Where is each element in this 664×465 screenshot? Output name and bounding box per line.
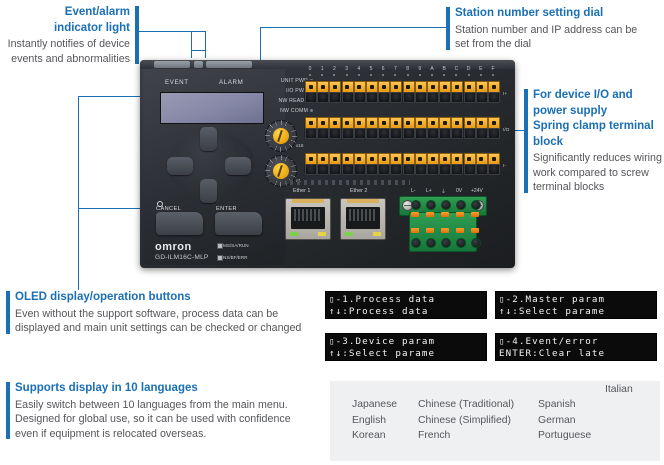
up-button[interactable] (200, 127, 217, 151)
power-terminal-label: L+ (426, 188, 432, 194)
wire-entry-hole[interactable] (378, 92, 390, 103)
power-terminal-label: 0V (456, 188, 462, 194)
terminal-row-2-label: I/O (503, 128, 509, 133)
language-item: Chinese (Traditional) (418, 397, 514, 413)
oled-sample-1-line1: ▯-1.Process data (329, 294, 483, 306)
model-number: GD-ILM16C-MLP (155, 254, 209, 261)
language-item: Italian (605, 382, 633, 398)
language-item: Portuguese (538, 428, 591, 444)
ether1-port[interactable] (285, 198, 331, 240)
wire-entry-hole[interactable] (427, 164, 439, 175)
ether2-act-led (373, 232, 381, 236)
vent-slots (290, 180, 410, 185)
wire-entry-hole[interactable] (378, 128, 390, 139)
language-column-2: Chinese (Traditional) Chinese (Simplifie… (418, 397, 514, 444)
terminal-number-dot (333, 74, 335, 76)
terminal-number: E (477, 66, 485, 72)
language-item: Spanish (538, 397, 591, 413)
oled-screen-samples: ▯-1.Process data ↑↓:Process data ▯-2.Mas… (325, 291, 661, 361)
wire-entry-hole[interactable] (390, 164, 402, 175)
callout-event-alarm: Event/alarm indicator light Instantly no… (6, 5, 139, 66)
callout-event-alarm-title: Event/alarm indicator light (6, 5, 130, 36)
power-terminal-lever[interactable] (411, 212, 419, 217)
terminal-number: B (440, 66, 448, 72)
wire-entry-hole[interactable] (415, 128, 427, 139)
terminal-number: 5 (367, 66, 375, 72)
terminal-number: 0 (306, 66, 314, 72)
oled-sample-4-line2: ENTER:Clear late (499, 348, 653, 360)
wire-entry-hole[interactable] (366, 128, 378, 139)
oled-sample-3-line1: ▯-3.Device param (329, 336, 483, 348)
event-led-label: EVENT (165, 79, 189, 86)
oled-sample-4: ▯-4.Event/error ENTER:Clear late (495, 333, 657, 361)
wire-entry-hole[interactable] (378, 164, 390, 175)
terminal-number-dot (321, 74, 323, 76)
wire-entry-hole[interactable] (415, 164, 427, 175)
right-button[interactable] (225, 157, 251, 175)
power-terminal-lever[interactable] (456, 228, 464, 233)
callout-languages-body: Easily switch between 10 languages from … (15, 398, 327, 442)
leader-line-event-alarm-h (139, 31, 205, 32)
oled-sample-2-line2: ↑↓:Select parame (499, 306, 653, 318)
wire-entry-hole[interactable] (427, 128, 439, 139)
language-list-box: Japanese English Korean Chinese (Traditi… (330, 381, 660, 461)
power-terminal-port[interactable] (426, 238, 436, 248)
power-terminal-label: ⏚ (441, 188, 446, 195)
status-led-dot-nw-comm (310, 109, 313, 112)
wire-entry-hole[interactable] (439, 164, 451, 175)
power-terminal-port[interactable] (441, 200, 451, 210)
power-terminal-label: L- (411, 188, 415, 194)
wire-entry-hole[interactable] (329, 128, 341, 139)
callout-terminal-block-title: For device I/O and power supply Spring c… (533, 88, 664, 150)
wire-entry-hole[interactable] (451, 128, 463, 139)
terminal-number-dot (358, 74, 360, 76)
left-button[interactable] (167, 157, 193, 175)
terminal-number: D (465, 66, 473, 72)
wire-entry-hole[interactable] (403, 128, 415, 139)
callout-terminal-block-body: Significantly reduces wiring work compar… (533, 151, 664, 195)
terminal-number-dot (468, 74, 470, 76)
terminal-row-1-label: I+ (503, 92, 507, 97)
terminal-number: 3 (343, 66, 351, 72)
terminal-number-dot (407, 74, 409, 76)
terminal-number: 4 (355, 66, 363, 72)
wire-entry-hole[interactable] (464, 92, 476, 103)
oled-sample-2: ▯-2.Master param ↑↓:Select parame (495, 291, 657, 319)
terminal-number-dot (394, 74, 396, 76)
ether2-port[interactable] (340, 198, 386, 240)
terminal-number-dot (382, 74, 384, 76)
language-item: Japanese (352, 397, 397, 413)
leader-line-event-alarm-v2 (205, 31, 206, 58)
ether2-link-led (345, 232, 353, 236)
terminal-row-3-label: I- (503, 164, 506, 169)
callout-oled-buttons-title: OLED display/operation buttons (15, 290, 325, 306)
callout-event-alarm-body: Instantly notifies of device events and … (6, 37, 130, 66)
wire-entry-hole[interactable] (451, 164, 463, 175)
status-led-label-unit-pwr: UNIT PWR (248, 78, 308, 84)
terminal-number-dot (419, 74, 421, 76)
terminal-number: 2 (330, 66, 338, 72)
callout-station-dial-title: Station number setting dial (455, 6, 664, 22)
callout-station-dial-body: Station number and IP address can be set… (455, 23, 664, 52)
din-clip-mid (194, 61, 203, 68)
language-column-1: Japanese English Korean (352, 397, 397, 444)
leader-line-event-alarm-v1 (191, 31, 192, 58)
language-item: German (538, 413, 591, 429)
ether2-notch (347, 199, 379, 203)
wire-entry-hole[interactable] (488, 128, 500, 139)
wire-entry-hole[interactable] (451, 92, 463, 103)
station-dial-x16-knob[interactable] (273, 128, 289, 144)
wire-entry-hole[interactable] (415, 92, 427, 103)
station-dial-x1-knob[interactable] (273, 163, 289, 179)
power-terminal-lever[interactable] (471, 212, 479, 217)
station-dial-x16-label: x16 (296, 143, 303, 148)
alarm-led-label: ALARM (219, 79, 243, 86)
oled-sample-2-line1: ▯-2.Master param (499, 294, 653, 306)
terminal-number-dot (309, 74, 311, 76)
power-terminal-lever[interactable] (456, 212, 464, 217)
power-terminal-lever[interactable] (471, 228, 479, 233)
wire-entry-hole[interactable] (317, 164, 329, 175)
power-terminal-label: +24V (471, 188, 483, 194)
wire-entry-hole[interactable] (464, 164, 476, 175)
leader-line-event-alarm-h2 (191, 50, 206, 51)
station-dial-x16[interactable] (265, 120, 297, 152)
callout-oled-buttons: OLED display/operation buttons Even with… (6, 290, 325, 336)
language-item: Korean (352, 428, 397, 444)
ether2-contacts (349, 209, 377, 221)
status-led-label-nw-ready: NW READY (248, 98, 308, 104)
ether1-link-led (290, 232, 298, 236)
wire-entry-hole[interactable] (403, 92, 415, 103)
wire-entry-hole[interactable] (366, 92, 378, 103)
terminal-number: C (452, 66, 460, 72)
terminal-number-dot (480, 74, 482, 76)
terminal-number: 8 (404, 66, 412, 72)
wire-entry-hole[interactable] (476, 164, 488, 175)
power-terminal-port[interactable] (411, 238, 421, 248)
terminal-number: 9 (416, 66, 424, 72)
wire-entry-hole[interactable] (305, 128, 317, 139)
wire-entry-hole[interactable] (390, 128, 402, 139)
power-terminal-port[interactable] (471, 200, 481, 210)
power-terminal-port[interactable] (456, 200, 466, 210)
language-column-4: Italian (605, 382, 633, 398)
callout-station-dial: Station number setting dial Station numb… (446, 6, 664, 52)
oled-sample-3-line2: ↑↓:Select parame (329, 348, 483, 360)
oled-sample-1-line2: ↑↓:Process data (329, 306, 483, 318)
language-column-3: Spanish German Portuguese (538, 397, 591, 444)
wire-entry-hole[interactable] (342, 128, 354, 139)
station-dial-x16-slot (277, 130, 283, 142)
terminal-number: F (489, 66, 497, 72)
power-terminal-lever[interactable] (441, 228, 449, 233)
din-clip-left (154, 61, 190, 68)
wire-entry-hole[interactable] (342, 92, 354, 103)
terminal-number: 6 (379, 66, 387, 72)
down-button[interactable] (200, 179, 217, 203)
wire-entry-hole[interactable] (317, 128, 329, 139)
ether1-label: Ether 1 (293, 188, 310, 194)
wire-entry-hole[interactable] (390, 92, 402, 103)
power-terminal-lever[interactable] (426, 212, 434, 217)
terminal-number-dot (346, 74, 348, 76)
station-dial-x1-slot (277, 165, 283, 177)
wire-entry-hole[interactable] (439, 92, 451, 103)
callout-languages-title: Supports display in 10 languages (15, 381, 327, 397)
leader-line-station-h (260, 27, 447, 28)
wire-entry-hole[interactable] (366, 164, 378, 175)
power-terminal-port[interactable] (456, 238, 466, 248)
wire-entry-hole[interactable] (329, 92, 341, 103)
wire-entry-hole[interactable] (476, 92, 488, 103)
callout-oled-buttons-body: Even without the support software, proce… (15, 307, 325, 336)
language-item: Chinese (Simplified) (418, 413, 514, 429)
power-terminal-lever[interactable] (426, 228, 434, 233)
wire-entry-hole[interactable] (488, 92, 500, 103)
din-clip-right (206, 61, 252, 68)
wire-entry-hole[interactable] (354, 164, 366, 175)
terminal-number: 1 (318, 66, 326, 72)
device-photo: EVENT ALARM CANCEL ENTER omron GD-ILM16C… (140, 60, 515, 268)
status-led-label-nw-comm: NW COMM (248, 108, 308, 114)
wire-entry-hole[interactable] (403, 164, 415, 175)
wire-entry-hole[interactable] (317, 92, 329, 103)
omron-logo: omron (155, 241, 192, 253)
ether1-contacts (294, 209, 322, 221)
terminal-number-dot (492, 74, 494, 76)
wire-entry-hole[interactable] (427, 92, 439, 103)
callout-languages: Supports display in 10 languages Easily … (6, 381, 327, 441)
wire-entry-hole[interactable] (354, 92, 366, 103)
language-item: French (418, 428, 514, 444)
power-terminal-lever[interactable] (411, 228, 419, 233)
wire-entry-hole[interactable] (476, 128, 488, 139)
ms-led-label: MS/SA/RUN (223, 243, 249, 248)
ether1-notch (292, 199, 324, 203)
wire-entry-hole[interactable] (342, 164, 354, 175)
ether1-act-led (318, 232, 326, 236)
wire-entry-hole[interactable] (488, 164, 500, 175)
cancel-button[interactable] (156, 212, 203, 235)
ns-led-label: NS/BF/ERR (223, 255, 248, 260)
terminal-number-dot (455, 74, 457, 76)
callout-terminal-block: For device I/O and power supply Spring c… (524, 88, 664, 195)
power-terminal-port[interactable] (441, 238, 451, 248)
power-terminal-port[interactable] (411, 200, 421, 210)
wire-entry-hole[interactable] (464, 128, 476, 139)
power-terminal-lever[interactable] (441, 212, 449, 217)
wire-entry-hole[interactable] (329, 164, 341, 175)
terminal-number-dot (431, 74, 433, 76)
oled-sample-3: ▯-3.Device param ↑↓:Select parame (325, 333, 487, 361)
terminal-number: 7 (391, 66, 399, 72)
power-terminal-port[interactable] (471, 238, 481, 248)
wire-entry-hole[interactable] (305, 164, 317, 175)
enter-button[interactable] (215, 212, 262, 235)
language-item: English (352, 413, 397, 429)
power-terminal-port[interactable] (426, 200, 436, 210)
oled-sample-4-line1: ▯-4.Event/error (499, 336, 653, 348)
ether2-label: Ether 2 (350, 188, 367, 194)
terminal-number-dot (443, 74, 445, 76)
wire-entry-hole[interactable] (439, 128, 451, 139)
leader-line-oled-v (78, 96, 79, 290)
wire-entry-hole[interactable] (305, 92, 317, 103)
terminal-number: A (428, 66, 436, 72)
oled-sample-1: ▯-1.Process data ↑↓:Process data (325, 291, 487, 319)
wire-entry-hole[interactable] (354, 128, 366, 139)
status-led-label-io-pwr: I/O PWR (248, 88, 308, 94)
terminal-number-dot (370, 74, 372, 76)
